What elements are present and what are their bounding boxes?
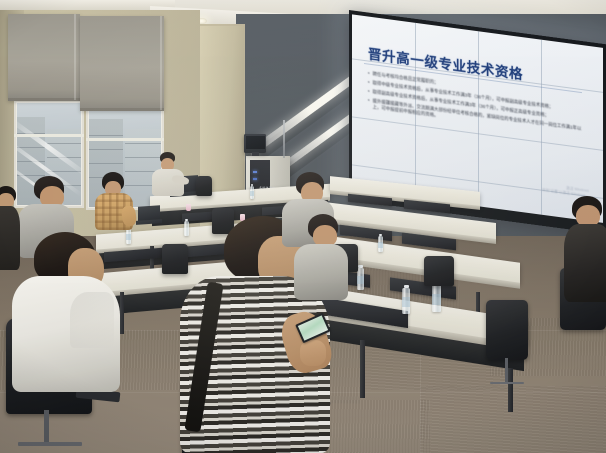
- microphone-icon: [283, 120, 285, 158]
- chair-base: [18, 442, 82, 446]
- building-line: [89, 163, 123, 164]
- podium-monitor-screen: [246, 136, 265, 149]
- person-woman-plaid-top: [94, 172, 136, 232]
- arm: [121, 205, 138, 227]
- power-led-icon: [253, 178, 257, 180]
- bottle-label: [402, 297, 410, 307]
- bullet-marker: •: [368, 98, 370, 109]
- building-line: [89, 135, 123, 136]
- shoulder-crease: [70, 292, 114, 348]
- building-line: [125, 143, 161, 144]
- bottle-cap: [251, 184, 254, 186]
- window-mullion: [86, 138, 164, 141]
- window-mullion: [14, 134, 84, 137]
- monitor-stand: [252, 152, 259, 156]
- torso: [294, 244, 348, 300]
- table-leg: [360, 340, 365, 398]
- bullet-marker: •: [368, 80, 370, 86]
- blind-bottom-rail[interactable]: [8, 98, 80, 101]
- table-leg: [508, 368, 513, 412]
- water-bottle[interactable]: [402, 288, 410, 314]
- bottle-cap: [404, 285, 409, 289]
- bottle-label: [432, 294, 441, 305]
- bottle-cap: [358, 265, 362, 268]
- person-presenter-at-laptop: [150, 152, 190, 198]
- water-bottle[interactable]: [357, 268, 364, 290]
- paper-cup[interactable]: [186, 204, 191, 211]
- podium-monitor[interactable]: [244, 134, 266, 153]
- blind-seam: [160, 16, 162, 110]
- blind-bottom-rail[interactable]: [80, 108, 164, 111]
- building-line: [47, 143, 81, 144]
- water-bottle[interactable]: [250, 186, 254, 199]
- bottle-label: [357, 276, 364, 284]
- roller-blind[interactable]: [8, 14, 80, 100]
- office-chair[interactable]: [486, 300, 528, 360]
- office-chair[interactable]: [196, 176, 212, 196]
- carpet-tile: [420, 386, 606, 453]
- building-line: [89, 149, 123, 150]
- roller-blind[interactable]: [80, 16, 164, 110]
- water-bottle[interactable]: [432, 284, 441, 312]
- chair-base: [490, 382, 524, 384]
- person-right-gray-shirt: [296, 214, 350, 300]
- bullet-marker: •: [368, 71, 370, 77]
- person-far-right: [566, 196, 606, 302]
- bottle-label: [378, 242, 383, 248]
- person-front-left-white-shirt: [12, 232, 122, 392]
- water-bottle[interactable]: [378, 236, 383, 252]
- conference-room-photo: 晋升高一级专业技术资格 • 聘任与考核均合格且正常履职的； • 取得中级专业技术…: [0, 0, 606, 453]
- chair-post: [44, 410, 49, 446]
- blind-seam: [74, 14, 76, 100]
- bottle-cap: [379, 234, 382, 237]
- hand: [300, 340, 326, 366]
- office-chair[interactable]: [424, 256, 454, 286]
- bullet-marker: •: [368, 89, 370, 95]
- bottle-label: [126, 234, 131, 240]
- torso: [564, 224, 606, 302]
- slide-bullet-list: • 聘任与考核均合格且正常履职的； • 取得中级专业技术资格后，从事专业技术工作…: [368, 71, 590, 143]
- bottle-label: [250, 191, 254, 196]
- power-led-icon: [253, 171, 257, 173]
- chair-post: [505, 358, 508, 384]
